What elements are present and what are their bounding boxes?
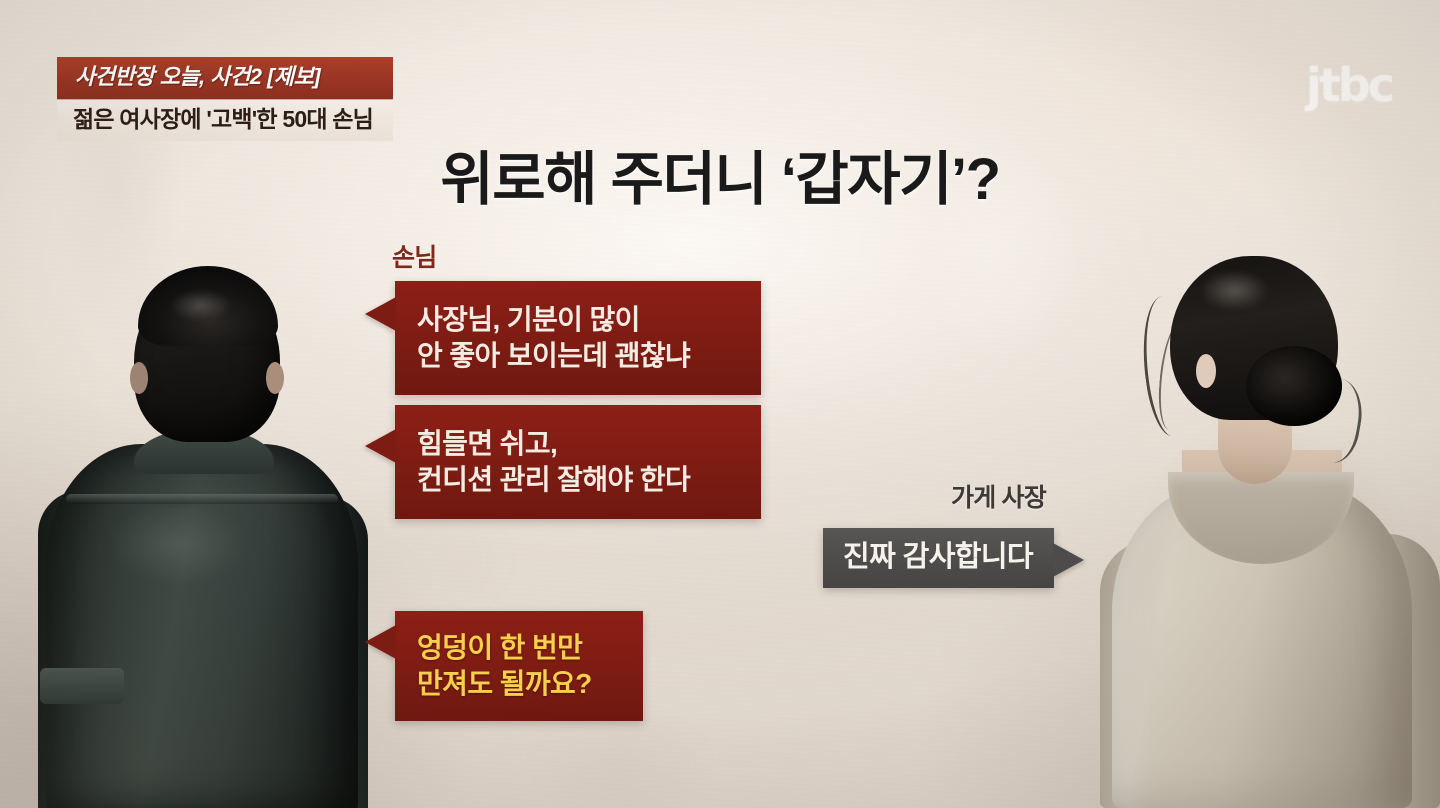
speaker-label-owner: 가게 사장 (951, 478, 1046, 514)
speech-bubble-guest-2: 힘들면 쉬고, 컨디션 관리 잘해야 한다 (395, 405, 761, 519)
headline-block: 사건반장 오늘, 사건2 [제보] 젊은 여사장에 '고백'한 50대 손님 (57, 57, 393, 141)
speech-bubble-guest-3-highlight: 엉덩이 한 번만 만져도 될까요? (395, 611, 643, 721)
broadcast-graphic-frame: 사건반장 오늘, 사건2 [제보] 젊은 여사장에 '고백'한 50대 손님 위… (0, 0, 1440, 808)
man-rolled-cuff (40, 668, 124, 704)
man-left-ear (130, 362, 148, 394)
bubble-line: 안 좋아 보이는데 괜찮냐 (417, 338, 761, 374)
bubble-line: 엉덩이 한 번만 (417, 630, 643, 666)
bubble-line: 만져도 될까요? (417, 666, 643, 702)
woman-hair-sheen (1196, 268, 1292, 324)
man-shirt-fold-highlight (98, 508, 298, 628)
man-figure-back-view (38, 258, 368, 808)
woman-ear (1196, 354, 1216, 388)
woman-figure-back-view (1100, 250, 1440, 808)
bubble-tail-right-icon (1053, 543, 1084, 577)
bubble-tail-left-icon (365, 625, 396, 659)
speaker-label-guest: 손님 (392, 238, 436, 274)
man-right-ear (266, 362, 284, 394)
headline-kicker: 사건반장 오늘, 사건2 [제보] (57, 57, 393, 99)
man-shirt-yoke-seam (66, 494, 338, 504)
bubble-tail-left-icon (365, 429, 396, 463)
bubble-tail-left-icon (365, 297, 396, 331)
jtbc-logo: jtbc (1306, 58, 1392, 112)
bubble-line: 힘들면 쉬고, (417, 426, 761, 462)
bubble-line: 사장님, 기분이 많이 (417, 302, 761, 338)
speech-bubble-guest-1: 사장님, 기분이 많이 안 좋아 보이는데 괜찮냐 (395, 281, 761, 395)
speech-bubble-owner-1: 진짜 감사합니다 (823, 528, 1054, 588)
page-title: 위로해 주더니 ‘갑자기’? (0, 132, 1440, 216)
bubble-line: 진짜 감사합니다 (843, 539, 1054, 577)
man-hair-sheen (162, 288, 248, 332)
bubble-line: 컨디션 관리 잘해야 한다 (417, 462, 761, 498)
